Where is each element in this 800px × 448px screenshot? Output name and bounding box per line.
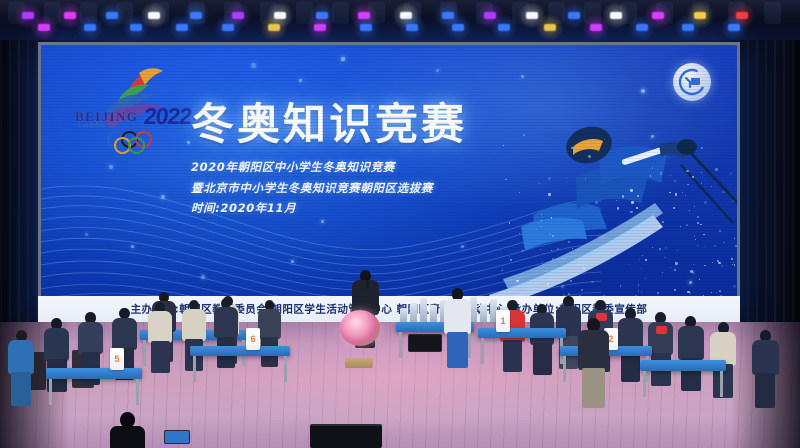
stage-lamp (148, 12, 160, 19)
stage-lamp (130, 24, 142, 31)
trophy (430, 305, 437, 322)
stage-lamp (636, 24, 648, 31)
stage-lamp (106, 12, 118, 19)
table-leg (284, 356, 287, 382)
table-leg (720, 371, 723, 397)
trophy (470, 297, 477, 322)
stage-lamp (544, 24, 556, 31)
red-scarf (656, 326, 667, 334)
led-scanlines (41, 45, 737, 321)
table-leg (563, 356, 566, 382)
student-table-right-front (640, 360, 726, 371)
table-placard: 1 (496, 310, 510, 332)
person-legs (151, 341, 170, 373)
table-placard: 6 (246, 328, 260, 350)
person-torso (8, 340, 34, 374)
person-torso (578, 330, 609, 370)
person-torso (110, 426, 145, 448)
person-torso (44, 328, 69, 361)
student-table-left-back (190, 346, 290, 356)
truss-fixture (764, 2, 781, 24)
person-torso (258, 309, 281, 339)
table-placard: 5 (110, 348, 124, 370)
trophy (420, 298, 427, 322)
person-legs (533, 343, 552, 375)
student-table-right-back (478, 328, 566, 338)
led-screen: BEIJING Candidate City 2022 冬奥知识竞赛 2020年… (41, 45, 737, 321)
table-leg (643, 371, 646, 397)
stage-lamp (176, 24, 188, 31)
stage-lamp (452, 24, 464, 31)
table-leg (193, 356, 196, 382)
stage-lamp (728, 24, 740, 31)
table-leg (136, 379, 139, 405)
person-torso (678, 326, 704, 360)
person-legs (503, 340, 522, 372)
stage-lamp (568, 12, 580, 19)
foreground-equipment (310, 424, 382, 448)
person-torso (182, 309, 206, 341)
stage-lamp (314, 24, 326, 31)
stage-lamp (526, 12, 538, 19)
equipment-case (408, 334, 442, 352)
flower-stand (345, 358, 373, 368)
stage-lamp (682, 24, 694, 31)
person-legs (11, 372, 31, 406)
stage-lamp (652, 12, 664, 19)
person-legs (582, 368, 606, 408)
person-torso (148, 311, 172, 343)
stage-lamp (38, 24, 50, 31)
stage-lamp (610, 12, 622, 19)
stage-lamp (590, 24, 602, 31)
person-legs (447, 332, 468, 368)
trophy (410, 303, 417, 322)
student-table-left-front (46, 368, 142, 379)
camera-screen (164, 430, 190, 444)
table-leg (399, 332, 402, 358)
stage-lamp (84, 24, 96, 31)
stage-lamp (498, 24, 510, 31)
table-leg (143, 340, 146, 366)
screenshot-root: BEIJING Candidate City 2022 冬奥知识竞赛 2020年… (0, 0, 800, 448)
person-torso (112, 318, 137, 350)
microphone (366, 280, 369, 289)
table-leg (49, 379, 52, 405)
led-screen-frame: BEIJING Candidate City 2022 冬奥知识竞赛 2020年… (38, 42, 740, 324)
stage-lamp (222, 24, 234, 31)
person-torso (752, 340, 779, 375)
lighting-truss (0, 0, 800, 40)
person-legs (755, 373, 775, 408)
stage-lamp (406, 24, 418, 31)
stage-lamp (268, 24, 280, 31)
person-torso (214, 307, 238, 338)
trophy (480, 304, 487, 322)
person-torso (444, 299, 471, 335)
floral-arrangement (340, 310, 380, 346)
table-leg (468, 332, 471, 358)
stage-lamp (360, 24, 372, 31)
table-leg (481, 338, 484, 364)
person-torso (78, 322, 103, 355)
trophy (400, 308, 407, 322)
stage-lamp (64, 12, 76, 19)
